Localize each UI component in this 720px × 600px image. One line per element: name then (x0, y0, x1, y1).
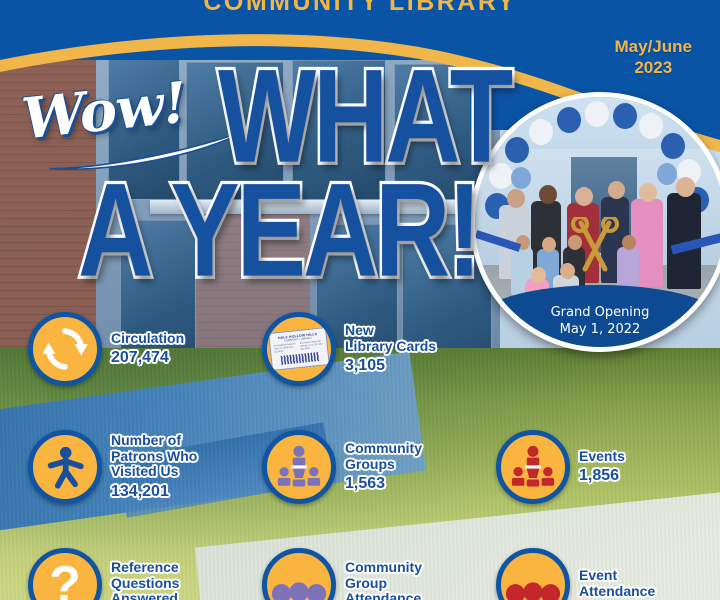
recycle-arrows-icon (28, 312, 102, 386)
masthead-title: COMMUNITY LIBRARY (0, 0, 720, 17)
stat-value: 207,474 (111, 349, 184, 367)
stat-label: Reference Questions Answered (111, 560, 179, 600)
stat-text: Reference Questions Answered (111, 560, 179, 600)
stat-event-attendance: Event Attendance (496, 548, 655, 600)
stat-label: Community Group Attendance (345, 560, 422, 600)
stat-label: New Library Cards (345, 323, 436, 354)
card-barcode (281, 352, 320, 365)
balloon (661, 133, 685, 159)
stat-text: Community Groups 1,563 (345, 441, 422, 493)
stat-patrons-visited: Number of Patrons Who Visited Us 134,201 (28, 430, 197, 504)
audience-purple-glyph (271, 564, 327, 600)
stat-community-groups: Community Groups 1,563 (262, 430, 422, 504)
stat-label: Event Attendance (579, 568, 655, 599)
attendee-head (575, 187, 593, 206)
walking-person-glyph (42, 444, 88, 490)
balloon (613, 103, 637, 129)
presentation-purple-glyph (274, 442, 324, 492)
question-mark-icon: ? (28, 548, 102, 600)
child-head (622, 235, 636, 250)
balloon (529, 119, 553, 145)
presentation-red-icon (496, 430, 570, 504)
stat-text: Community Group Attendance (345, 560, 422, 600)
balloon (657, 163, 677, 185)
stat-circulation: Circulation 207,474 (28, 312, 184, 386)
attendee-head (608, 181, 625, 199)
question-mark-glyph: ? (49, 559, 81, 600)
attendee-head (639, 183, 657, 202)
stat-label: Circulation (111, 331, 184, 347)
audience-red-icon (496, 548, 570, 600)
presentation-purple-icon (262, 430, 336, 504)
stat-value: 1,563 (345, 475, 422, 493)
stat-label: Events (579, 449, 625, 465)
presentation-red-glyph (508, 442, 558, 492)
stat-text: Circulation 207,474 (111, 331, 184, 368)
stat-text: Number of Patrons Who Visited Us 134,201 (111, 433, 197, 501)
stat-value: 1,856 (579, 467, 625, 485)
library-card-graphic: HALF HOLLOW HILLS COMMUNITY LIBRARY 55 V… (268, 327, 330, 371)
library-card-icon: HALF HOLLOW HILLS COMMUNITY LIBRARY 55 V… (262, 312, 336, 386)
stat-value: 3,105 (345, 357, 436, 375)
recycle-arrows-glyph (39, 323, 91, 375)
attendee-head (539, 185, 557, 204)
headline-line-2: A YEAR! (78, 155, 479, 307)
walking-person-icon (28, 430, 102, 504)
child-head (542, 237, 556, 252)
audience-red-glyph (505, 564, 561, 600)
balloon (585, 101, 609, 127)
stat-reference-questions: ? Reference Questions Answered (28, 548, 179, 600)
stat-events: Events 1,856 (496, 430, 625, 504)
newsletter-cover: COMMUNITY LIBRARY May/June 2023 Wow! WHA… (0, 0, 720, 600)
photo-caption-line-2: May 1, 2022 (560, 322, 641, 339)
stat-text: Event Attendance (579, 568, 655, 600)
photo-caption-line-1: Grand Opening (551, 305, 650, 322)
attendee-head (676, 177, 695, 197)
stat-label: Number of Patrons Who Visited Us (111, 433, 197, 480)
card-address-1: 55 Vanderbilt Pkwy Dix Hills, NY 11746 6… (274, 343, 298, 354)
card-address-2: 510 Sweet Hollow Rd Melville, NY 11747 6… (300, 341, 324, 352)
stat-community-group-attendance: Community Group Attendance (262, 548, 422, 600)
audience-purple-icon (262, 548, 336, 600)
stat-text: New Library Cards 3,105 (345, 323, 436, 375)
stat-label: Community Groups (345, 441, 422, 472)
issue-month: May/June (615, 36, 692, 57)
balloon (639, 113, 663, 139)
stat-text: Events 1,856 (579, 449, 625, 486)
stat-new-library-cards: HALF HOLLOW HILLS COMMUNITY LIBRARY 55 V… (262, 312, 436, 386)
stat-value: 134,201 (111, 483, 197, 501)
balloon (557, 107, 581, 133)
balloon (511, 167, 531, 189)
giant-scissors-icon (571, 217, 619, 279)
issue-year: 2023 (615, 57, 692, 78)
child-head (531, 267, 546, 283)
issue-date: May/June 2023 (615, 36, 692, 79)
